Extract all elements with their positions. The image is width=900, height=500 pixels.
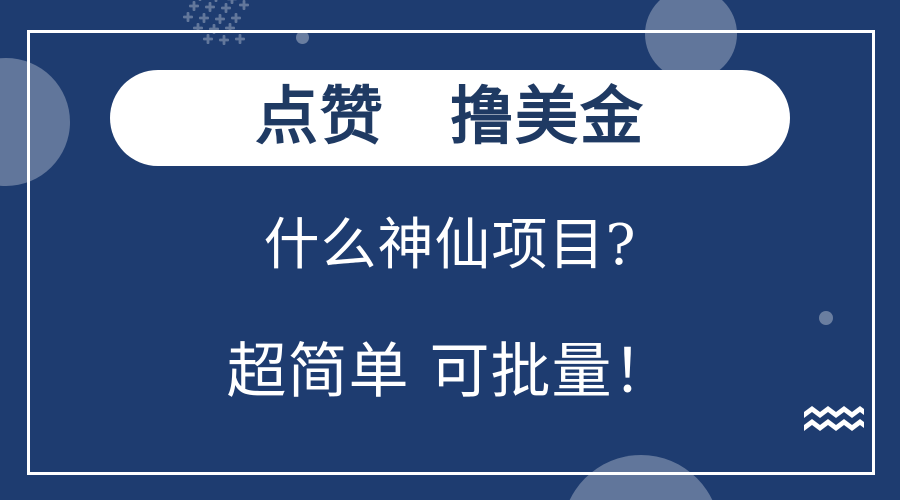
poster-content: 点赞 撸美金 什么神仙项目? 超简单 可批量！ xyxy=(0,0,900,500)
headline-text: 点赞 撸美金 xyxy=(255,85,645,148)
promo-poster: 点赞 撸美金 什么神仙项目? 超简单 可批量！ xyxy=(0,0,900,500)
subheading-benefit: 超简单 可批量！ xyxy=(0,342,900,402)
headline-pill: 点赞 撸美金 xyxy=(110,70,790,166)
subheading-question: 什么神仙项目? xyxy=(0,218,900,274)
